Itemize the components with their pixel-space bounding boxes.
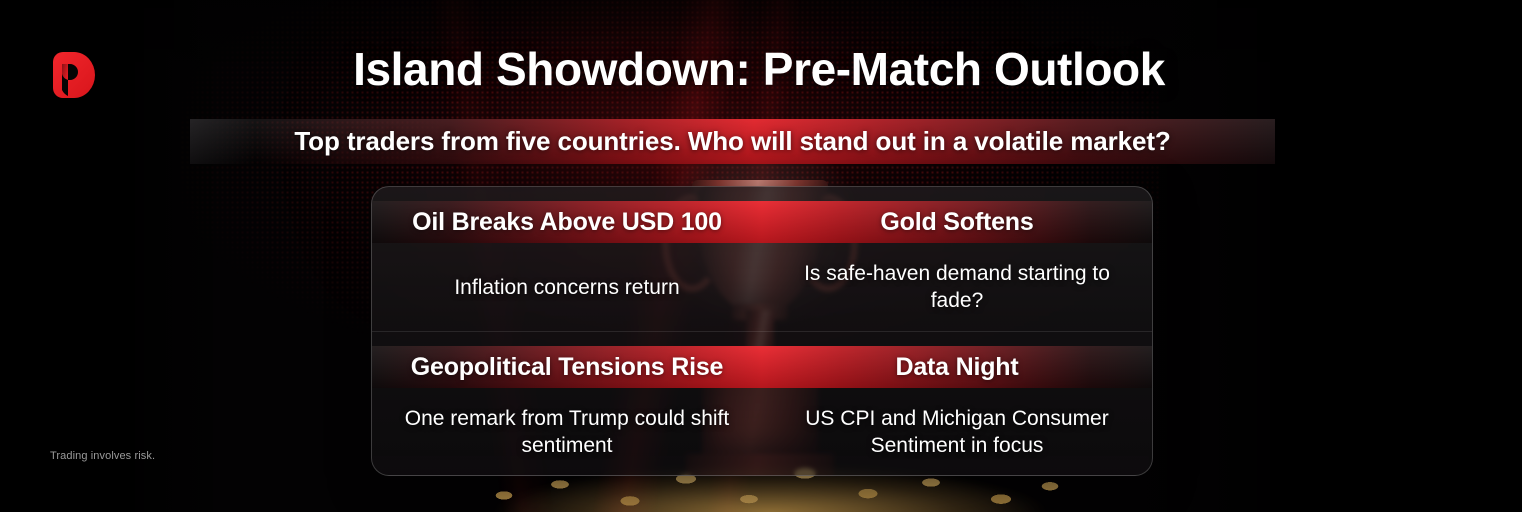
risk-disclaimer: Trading involves risk. [50,450,155,462]
card-title-gold: Gold Softens [762,201,1152,243]
card-body-data-night: US CPI and Michigan Consumer Sentiment i… [762,388,1152,476]
card-title-geopolitical: Geopolitical Tensions Rise [372,346,762,388]
row-1-titles: Oil Breaks Above USD 100 Gold Softens [372,201,1152,243]
page-title: Island Showdown: Pre-Match Outlook [0,40,1522,98]
promo-banner: Island Showdown: Pre-Match Outlook Top t… [0,0,1522,512]
row-2-bodies: One remark from Trump could shift sentim… [372,388,1152,476]
row-1-bodies: Inflation concerns return Is safe-haven … [372,243,1152,331]
page-title-text: Island Showdown: Pre-Match Outlook [353,40,1165,98]
card-title-oil: Oil Breaks Above USD 100 [372,201,762,243]
outlook-card: Oil Breaks Above USD 100 Gold Softens In… [371,186,1153,476]
row-2-titles: Geopolitical Tensions Rise Data Night [372,346,1152,388]
subtitle-text: Top traders from five countries. Who wil… [190,119,1275,164]
card-body-geopolitical: One remark from Trump could shift sentim… [372,388,762,476]
card-body-gold: Is safe-haven demand starting to fade? [762,243,1152,331]
card-row-1: Oil Breaks Above USD 100 Gold Softens In… [372,187,1152,331]
card-row-2: Geopolitical Tensions Rise Data Night On… [372,331,1152,476]
card-title-data-night: Data Night [762,346,1152,388]
card-body-oil: Inflation concerns return [372,243,762,331]
subtitle-banner: Top traders from five countries. Who wil… [190,119,1275,164]
